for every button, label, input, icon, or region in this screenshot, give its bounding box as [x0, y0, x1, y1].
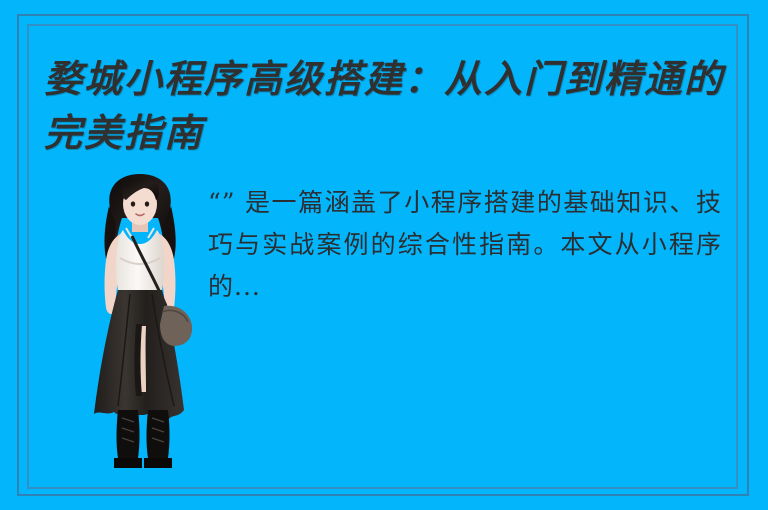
left-boot-sole	[114, 458, 142, 468]
left-eye	[131, 201, 135, 206]
right-eye	[145, 201, 149, 206]
right-boot-sole	[144, 458, 172, 468]
poster-canvas: 婺城小程序高级搭建：从入门到精通的完美指南 “” 是一篇涵盖了小程序搭建的基础知…	[0, 0, 768, 510]
left-boot	[117, 410, 140, 458]
right-boot	[147, 410, 170, 458]
article-excerpt: “” 是一篇涵盖了小程序搭建的基础知识、技巧与实战案例的综合性指南。本文从小程序…	[208, 182, 722, 308]
page-title: 婺城小程序高级搭建：从入门到精通的完美指南	[44, 52, 734, 160]
model-photo	[60, 166, 220, 474]
